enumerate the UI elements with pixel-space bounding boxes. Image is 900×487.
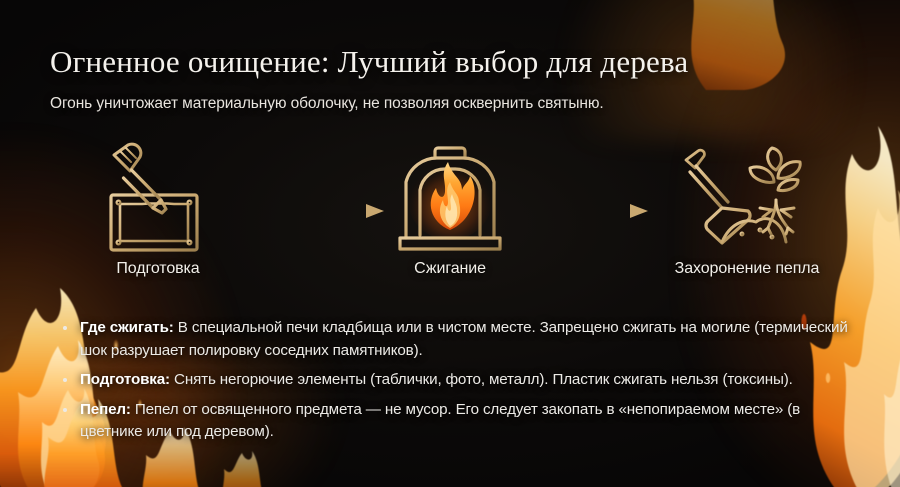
step-ash-burial[interactable]: Захоронение пепла [642,138,852,303]
step-preparation-label: Подготовка [116,260,199,278]
bullet-ash-text: Пепел от освященного предмета — не мусор… [80,401,800,441]
bullet-list: Где сжигать: В специальной печи кладбища… [58,317,858,451]
arrow-right-icon-2 [532,200,650,222]
slide-subtitle: Огонь уничтожает материальную оболочку, … [50,93,604,115]
bullet-where-to-burn: Где сжигать: В специальной печи кладбища… [58,317,858,362]
screwdriver-plaque-icon [98,139,218,259]
bullet-ash-lead: Пепел: [80,401,131,418]
step-burning-icon-wrap [390,138,510,260]
step-preparation-icon-wrap [98,138,218,260]
step-ash-burial-icon-wrap [672,138,822,260]
bullet-preparation: Подготовка: Снять негорючие элементы (та… [58,369,858,392]
bullet-where-to-burn-text: В специальной печи кладбища или в чистом… [80,319,848,359]
step-burning[interactable]: Сжигание [360,138,540,303]
slide-title: Огненное очищение: Лучший выбор для дере… [50,43,688,81]
furnace-flame-icon [390,138,510,260]
process-steps: Подготовка [50,138,850,303]
step-burning-label: Сжигание [414,260,486,278]
shovel-plant-roots-icon [672,138,822,260]
slide-root: Огненное очищение: Лучший выбор для дере… [0,0,900,487]
bullet-ash: Пепел: Пепел от освященного предмета — н… [58,399,858,444]
step-preparation[interactable]: Подготовка [68,138,248,303]
bullet-where-to-burn-lead: Где сжигать: [80,319,174,336]
bullet-preparation-text: Снять негорючие элементы (таблички, фото… [170,371,793,388]
step-ash-burial-label: Захоронение пепла [675,260,820,278]
bullet-preparation-lead: Подготовка: [80,371,170,388]
